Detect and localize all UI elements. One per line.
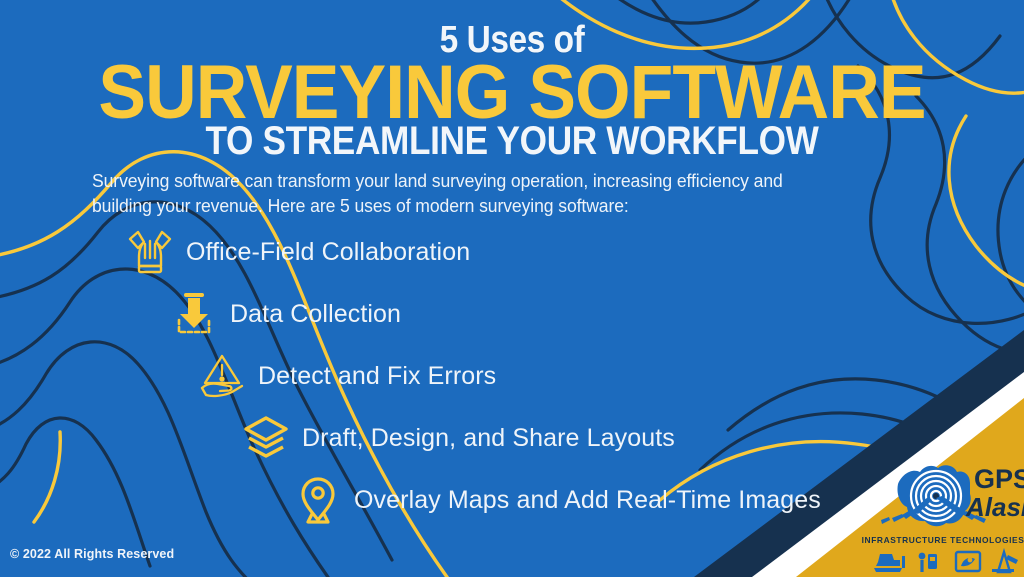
list-item-label: Office-Field Collaboration xyxy=(186,238,470,266)
page-subtitle: TO STREAMLINE YOUR WORKFLOW xyxy=(61,120,962,162)
list-item: Detect and Fix Errors xyxy=(0,346,1024,406)
bulldozer-icon xyxy=(874,554,905,572)
stacked-layers-icon xyxy=(240,412,292,464)
list-item-label: Detect and Fix Errors xyxy=(258,362,496,390)
oil-derrick-icon xyxy=(992,552,1018,572)
intro-line-2: building your revenue. Here are 5 uses o… xyxy=(92,193,863,218)
hand-warning-triangle-icon xyxy=(196,350,248,402)
list-item: Office-Field Collaboration xyxy=(0,222,1024,282)
infographic-poster: 5 Uses of SURVEYING SOFTWARE TO STREAMLI… xyxy=(0,0,1024,577)
list-item: Data Collection xyxy=(0,284,1024,344)
logo-tagline: INFRASTRUCTURE TECHNOLOGIES xyxy=(862,535,1024,545)
handshake-collaboration-icon xyxy=(124,226,176,278)
list-item-label: Draft, Design, and Share Layouts xyxy=(302,424,675,452)
map-pin-icon xyxy=(292,474,344,526)
intro-line-1: Surveying software can transform your la… xyxy=(92,168,863,193)
list-item-label: Data Collection xyxy=(230,300,401,328)
logo-artwork: GPS Alaska INFRASTRUCTURE TECHNOLOGIES xyxy=(862,450,1024,577)
list-item-label: Overlay Maps and Add Real-Time Images xyxy=(354,486,821,514)
copyright-text: © 2022 All Rights Reserved xyxy=(10,547,174,561)
download-tray-icon xyxy=(168,288,220,340)
logo-brand-line-1: GPS xyxy=(974,464,1024,494)
survey-tripod-icon xyxy=(919,553,937,572)
logo-brand-line-2: Alaska xyxy=(965,492,1024,522)
computer-mapping-icon xyxy=(956,552,980,571)
intro-paragraph: Surveying software can transform your la… xyxy=(92,168,863,218)
gps-alaska-logo: GPS Alaska INFRASTRUCTURE TECHNOLOGIES xyxy=(862,450,1024,577)
industry-icon-row xyxy=(874,552,1018,572)
